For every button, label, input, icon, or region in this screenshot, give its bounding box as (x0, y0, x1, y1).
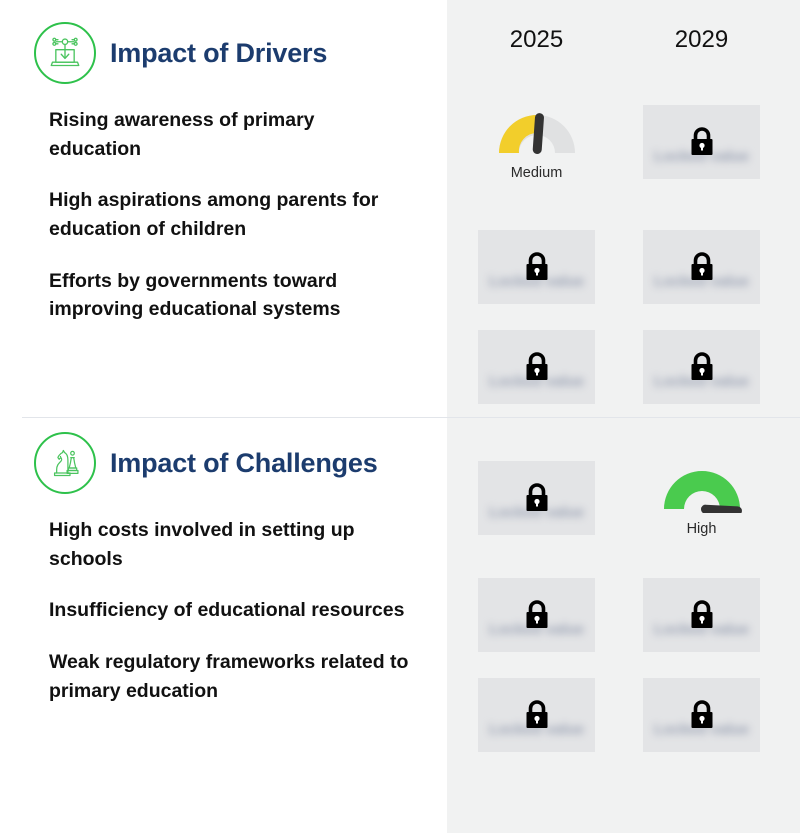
locked-value[interactable]: Locked value (478, 678, 595, 752)
bullet-list-drivers: Rising awareness of primary education Hi… (49, 106, 429, 324)
cell-drivers-r3-2029[interactable]: Locked value (643, 330, 760, 404)
cell-challenges-r2-2029[interactable]: Locked value (643, 578, 760, 652)
section-drivers: Impact of Drivers Rising awareness of pr… (0, 0, 447, 417)
section-title-drivers: Impact of Drivers (110, 38, 327, 69)
locked-value[interactable]: Locked value (478, 330, 595, 404)
cell-challenges-r3-2025[interactable]: Locked value (478, 678, 595, 752)
gauge-high: High (643, 461, 760, 535)
gauge-level-label: High (643, 521, 760, 537)
lock-icon (687, 250, 717, 284)
lock-icon (522, 598, 552, 632)
cell-challenges-r1-2025[interactable]: Locked value (478, 461, 595, 535)
lock-icon (522, 481, 552, 515)
laptop-download-icon (34, 22, 96, 84)
locked-value[interactable]: Locked value (478, 578, 595, 652)
column-header-2029: 2029 (643, 26, 760, 54)
section-title-challenges: Impact of Challenges (110, 448, 378, 479)
impact-matrix-root: Impact of Drivers Rising awareness of pr… (0, 0, 800, 833)
cell-drivers-r3-2025[interactable]: Locked value (478, 330, 595, 404)
cell-challenges-r2-2025[interactable]: Locked value (478, 578, 595, 652)
cell-drivers-r1-2029[interactable]: Locked value (643, 105, 760, 179)
section-challenges: Impact of Challenges High costs involved… (0, 418, 447, 833)
section-header-challenges: Impact of Challenges (34, 432, 378, 494)
lock-icon (687, 350, 717, 384)
lock-icon (687, 698, 717, 732)
locked-value[interactable]: Locked value (643, 578, 760, 652)
values-panel: 2025 2029 Medium Locked value (447, 0, 800, 833)
chess-pieces-icon (34, 432, 96, 494)
lock-icon (522, 250, 552, 284)
gauge-medium: Medium (478, 105, 595, 179)
locked-value[interactable]: Locked value (643, 230, 760, 304)
cell-challenges-r1-2029[interactable]: High (643, 461, 760, 535)
locked-value[interactable]: Locked value (643, 330, 760, 404)
cell-drivers-r1-2025[interactable]: Medium (478, 105, 595, 179)
lock-icon (522, 350, 552, 384)
bullet-list-challenges: High costs involved in setting up school… (49, 516, 429, 705)
gauge-level-label: Medium (478, 165, 595, 181)
locked-value[interactable]: Locked value (478, 230, 595, 304)
gauge-arc (493, 107, 581, 157)
gauge-arc (658, 463, 746, 513)
lock-icon (522, 698, 552, 732)
lock-icon (687, 125, 717, 159)
column-header-2025: 2025 (478, 26, 595, 54)
bullet-item: Insufficiency of educational resources (49, 596, 409, 625)
lock-icon (687, 598, 717, 632)
bullet-item: High aspirations among parents for educa… (49, 186, 409, 243)
cell-drivers-r2-2025[interactable]: Locked value (478, 230, 595, 304)
cell-drivers-r2-2029[interactable]: Locked value (643, 230, 760, 304)
left-content-pane: Impact of Drivers Rising awareness of pr… (0, 0, 447, 833)
bullet-item: Rising awareness of primary education (49, 106, 409, 163)
bullet-item: High costs involved in setting up school… (49, 516, 409, 573)
locked-value[interactable]: Locked value (478, 461, 595, 535)
locked-value[interactable]: Locked value (643, 105, 760, 179)
panel-divider (447, 417, 800, 418)
bullet-item: Efforts by governments toward improving … (49, 267, 409, 324)
bullet-item: Weak regulatory frameworks related to pr… (49, 648, 409, 705)
section-header-drivers: Impact of Drivers (34, 22, 327, 84)
locked-value[interactable]: Locked value (643, 678, 760, 752)
cell-challenges-r3-2029[interactable]: Locked value (643, 678, 760, 752)
